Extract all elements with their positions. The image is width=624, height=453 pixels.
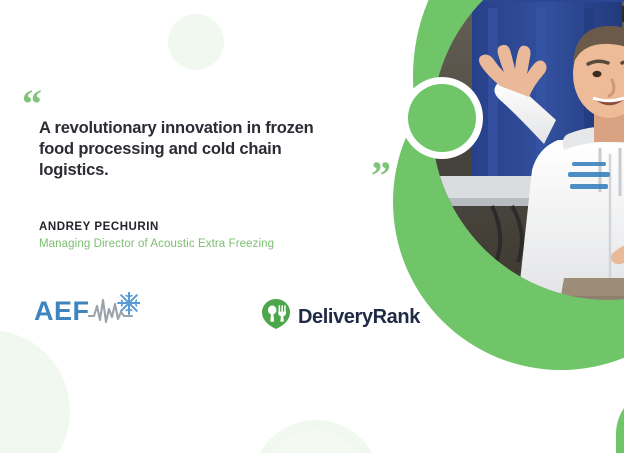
decor-ring-dot: [408, 84, 476, 152]
logo-deliveryrank-wordmark: DeliveryRank: [298, 307, 420, 327]
logo-aef-wordmark: AEF: [34, 298, 90, 325]
waveform-snowflake-icon: [88, 292, 140, 331]
quote-close-icon: ”: [371, 156, 390, 196]
author-name: ANDREY PECHURIN: [39, 221, 159, 233]
decor-circle-top: [168, 14, 224, 70]
author-role: Managing Director of Acoustic Extra Free…: [39, 238, 274, 250]
artwork-panel: [380, 0, 624, 453]
logo-aef: AEF: [34, 292, 140, 331]
testimonial-card: “ A revolutionary innovation in frozen f…: [0, 0, 624, 453]
decor-corner-blob: [616, 388, 624, 453]
decor-circle-bottom-left: [0, 330, 70, 453]
location-pin-cutlery-icon: [261, 298, 291, 335]
logo-deliveryrank: DeliveryRank: [261, 298, 420, 335]
quote-text: A revolutionary innovation in frozen foo…: [39, 118, 349, 181]
